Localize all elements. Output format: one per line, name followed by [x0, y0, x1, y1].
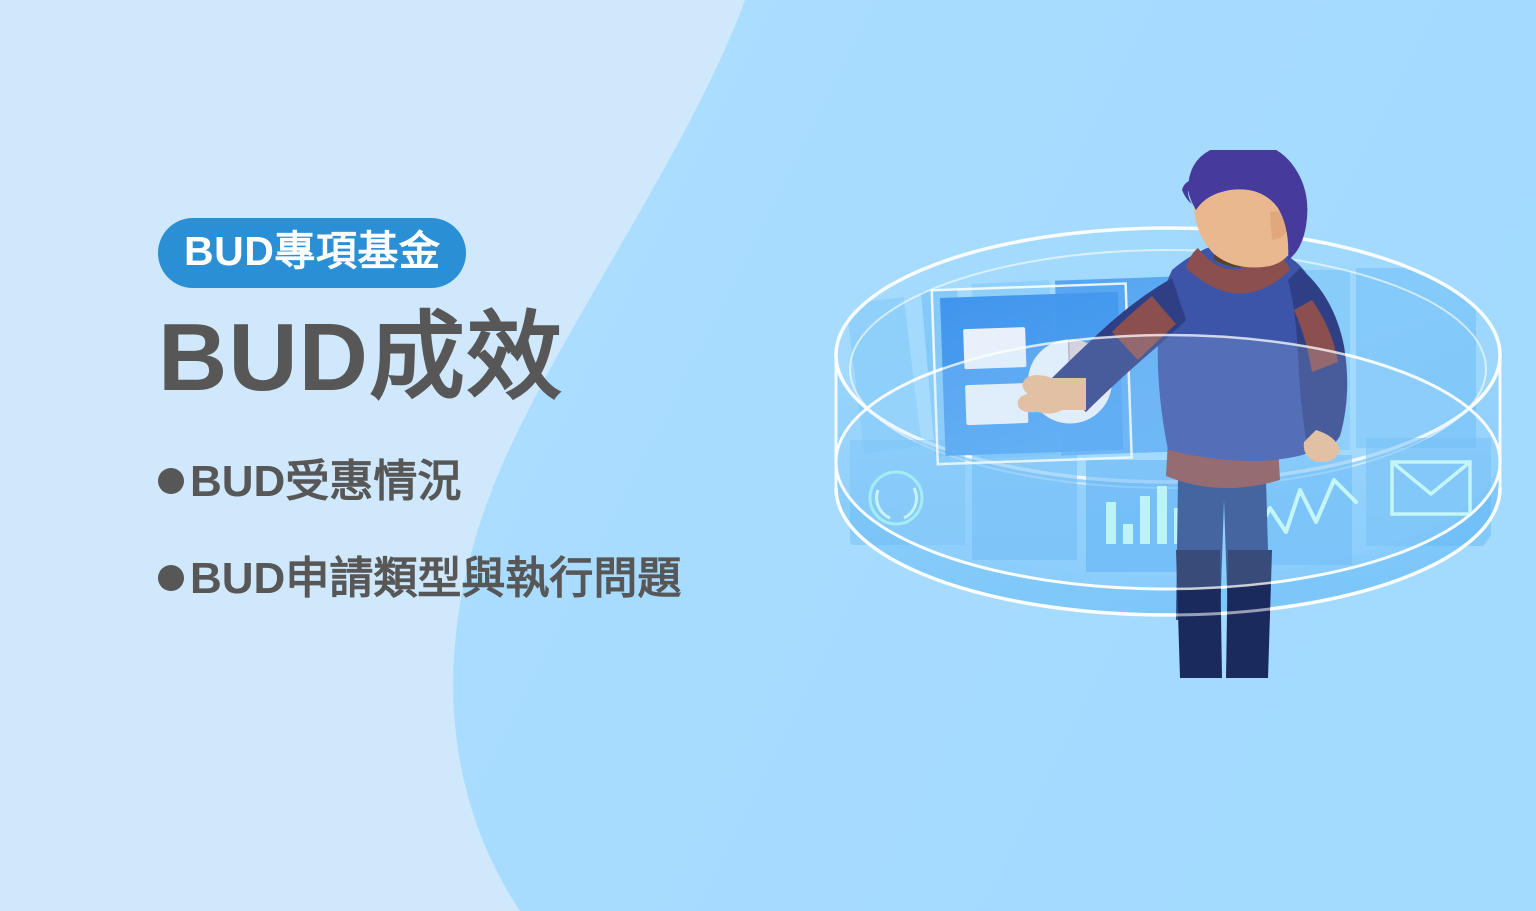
hero-illustration	[800, 150, 1536, 770]
page-title: BUD成效	[158, 306, 798, 410]
illustration-svg	[800, 150, 1536, 770]
ring-glass-overlay	[836, 335, 1500, 589]
bullet-dot-icon	[158, 468, 184, 494]
list-item: BUD申請類型與執行問題	[158, 551, 798, 606]
hero-badge: BUD專項基金	[158, 218, 466, 288]
bullet-list: BUD受惠情況 BUD申請類型與執行問題	[158, 454, 798, 606]
list-item: BUD受惠情況	[158, 454, 798, 509]
bullet-dot-icon	[158, 565, 184, 591]
hero-text-block: BUD專項基金 BUD成效 BUD受惠情況 BUD申請類型與執行問題	[158, 218, 798, 606]
list-item-label: BUD受惠情況	[190, 454, 461, 509]
list-item-label: BUD申請類型與執行問題	[190, 551, 681, 606]
slide-canvas: BUD專項基金 BUD成效 BUD受惠情況 BUD申請類型與執行問題	[0, 0, 1536, 911]
